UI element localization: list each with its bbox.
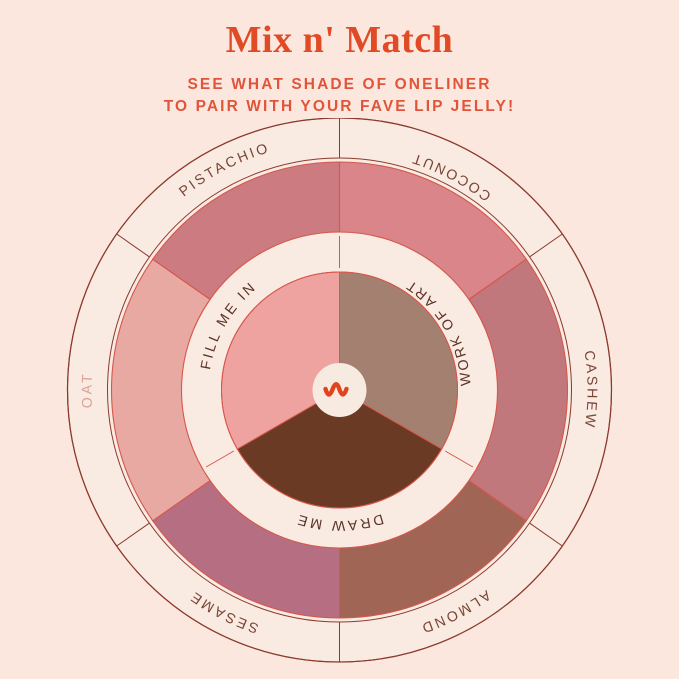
subtitle-line-1: SEE WHAT SHADE OF ONELINER	[187, 76, 491, 93]
wheel-svg[interactable]: COCONUTCASHEWALMONDSESAMEOATPISTACHIOWOR…	[0, 118, 679, 678]
match-wheel[interactable]: COCONUTCASHEWALMONDSESAMEOATPISTACHIOWOR…	[0, 118, 679, 678]
page-subtitle: SEE WHAT SHADE OF ONELINER TO PAIR WITH …	[0, 74, 679, 119]
outer-label-oat: OAT	[79, 371, 96, 408]
poster-header: Mix n' Match SEE WHAT SHADE OF ONELINER …	[0, 0, 679, 119]
page-title: Mix n' Match	[0, 20, 679, 62]
subtitle-line-2: TO PAIR WITH YOUR FAVE LIP JELLY!	[164, 98, 516, 115]
mix-n-match-poster: Mix n' Match SEE WHAT SHADE OF ONELINER …	[0, 0, 679, 679]
